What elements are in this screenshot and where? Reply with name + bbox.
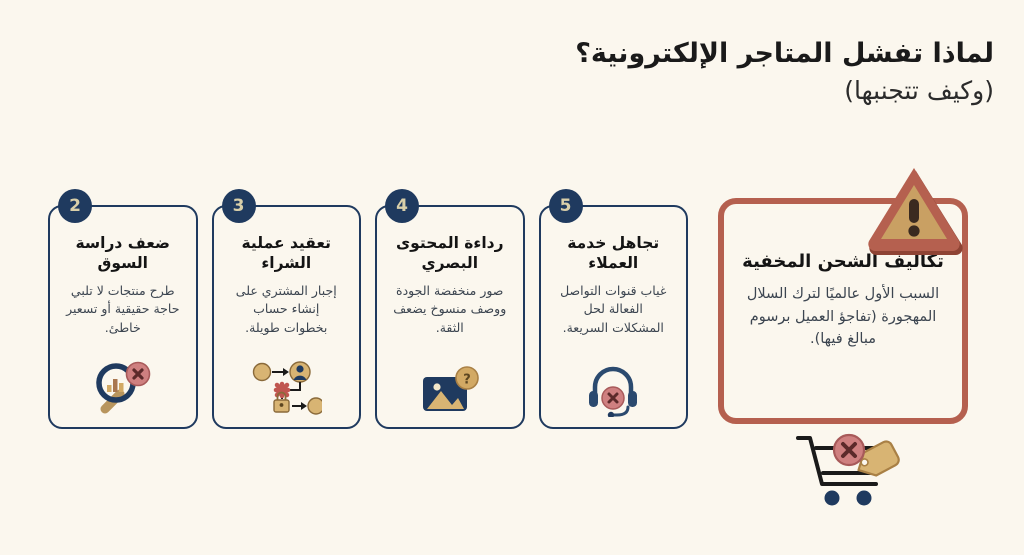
card-body: صور منخفضة الجودة ووصف منسوخ يضعف الثقة.	[387, 282, 513, 336]
card-body: غياب قنوات التواصل الفعالة لحل المشكلات …	[551, 282, 677, 336]
headset-error-icon	[541, 355, 687, 417]
card-body: طرح منتجات لا تلبي حاجة حقيقية أو تسعير …	[60, 282, 186, 336]
market-research-error-icon	[50, 355, 196, 417]
checkout-flow-blocked-icon	[214, 355, 360, 417]
card-title: رداءة المحتوى البصري	[387, 233, 513, 273]
title-block: لماذا تفشل المتاجر الإلكترونية؟ (وكيف تت…	[354, 36, 994, 108]
card-number-badge: 3	[222, 189, 256, 223]
svg-text:?: ?	[463, 373, 471, 388]
card-title: تعقيد عملية الشراء	[224, 233, 350, 273]
card-title: تجاهل خدمة العملاء	[551, 233, 677, 273]
card-number-badge: 5	[549, 189, 583, 223]
warning-triangle-icon	[862, 163, 970, 255]
page-subtitle: (وكيف تتجنبها)	[354, 74, 994, 108]
cards-strip: 5 تجاهل خدمة العملاء غياب قنوات التواصل …	[48, 205, 688, 435]
card-number-badge: 2	[58, 189, 92, 223]
card-market-research[interactable]: 2 ضعف دراسة السوق طرح منتجات لا تلبي حاج…	[48, 205, 198, 429]
card-visual-content[interactable]: 4 رداءة المحتوى البصري صور منخفضة الجودة…	[375, 205, 525, 429]
card-customer-service[interactable]: 5 تجاهل خدمة العملاء غياب قنوات التواصل …	[539, 205, 689, 429]
card-number-badge: 4	[385, 189, 419, 223]
broken-image-icon: ?	[377, 355, 523, 417]
abandoned-cart-icon	[792, 428, 902, 508]
highlight-body: السبب الأول عالميًا لترك السلال المهجورة…	[740, 283, 946, 350]
card-checkout-complexity[interactable]: 3 تعقيد عملية الشراء إجبار المشتري على إ…	[212, 205, 362, 429]
page-title: لماذا تفشل المتاجر الإلكترونية؟	[354, 36, 994, 72]
card-body: إجبار المشتري على إنشاء حساب بخطوات طويل…	[224, 282, 350, 336]
card-title: ضعف دراسة السوق	[60, 233, 186, 273]
